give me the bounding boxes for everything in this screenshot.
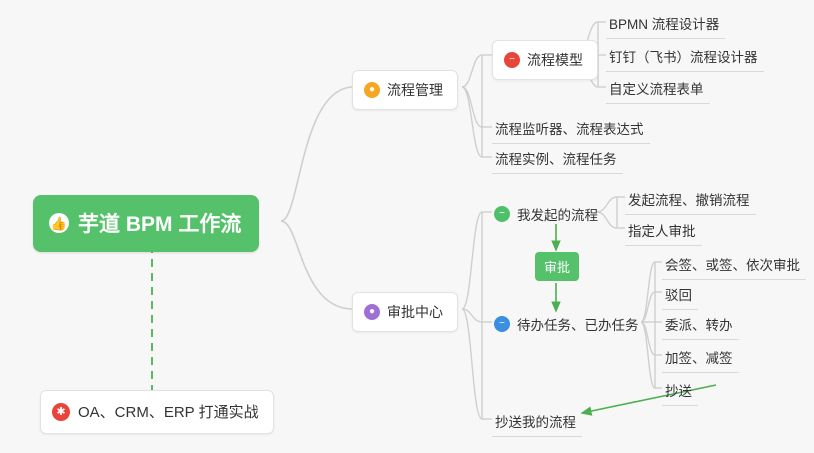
branch-label: 审批中心: [387, 302, 443, 322]
node-label: 我发起的流程: [517, 204, 598, 224]
leaf-custom-form[interactable]: 自定义流程表单: [606, 75, 710, 104]
leaf-add-remove-sign[interactable]: 加签、减签: [662, 344, 739, 373]
location-pin-icon: ●: [364, 82, 380, 98]
minus-circle-icon: −: [504, 52, 520, 68]
leaf-flow-listener-expression[interactable]: 流程监听器、流程表达式: [492, 115, 650, 144]
leaf-bpmn-designer[interactable]: BPMN 流程设计器: [606, 10, 725, 39]
minus-circle-icon: −: [494, 206, 510, 222]
leaf-assign-approver[interactable]: 指定人审批: [625, 217, 702, 246]
callout-integration[interactable]: ✱ OA、CRM、ERP 打通实战: [40, 390, 274, 434]
branch-approval-center[interactable]: ● 审批中心: [352, 292, 458, 332]
chat-bubble-icon: ●: [364, 304, 380, 320]
node-my-initiated-flows[interactable]: − 我发起的流程: [492, 201, 604, 229]
branch-label: 流程管理: [387, 80, 443, 100]
root-label: 芋道 BPM 工作流: [78, 208, 241, 238]
leaf-reject[interactable]: 驳回: [662, 281, 698, 310]
leaf-countersign[interactable]: 会签、或签、依次审批: [662, 251, 806, 280]
branch-flow-management[interactable]: ● 流程管理: [352, 70, 458, 110]
tag-approval[interactable]: 审批: [535, 252, 579, 281]
leaf-dingtalk-designer[interactable]: 钉钉（飞书）流程设计器: [606, 43, 764, 72]
node-label: 待办任务、已办任务: [517, 314, 639, 334]
leaf-flow-instance-task[interactable]: 流程实例、流程任务: [492, 145, 623, 174]
thumbs-up-icon: 👍: [49, 213, 69, 233]
leaf-cc[interactable]: 抄送: [662, 377, 698, 406]
leaf-start-cancel-flow[interactable]: 发起流程、撤销流程: [625, 186, 756, 215]
node-flow-model[interactable]: − 流程模型: [492, 40, 598, 80]
minus-circle-icon: −: [494, 316, 510, 332]
root-node[interactable]: 👍 芋道 BPM 工作流: [33, 195, 259, 252]
leaf-delegate-transfer[interactable]: 委派、转办: [662, 311, 739, 340]
star-icon: ✱: [52, 403, 70, 421]
mindmap-canvas: 👍 芋道 BPM 工作流 ● 流程管理 − 流程模型 BPMN 流程设计器 钉钉…: [0, 0, 814, 453]
callout-label: OA、CRM、ERP 打通实战: [78, 401, 259, 422]
node-label: 流程模型: [527, 50, 583, 70]
node-todo-done-tasks[interactable]: − 待办任务、已办任务: [492, 311, 645, 339]
leaf-cc-to-me-flows[interactable]: 抄送我的流程: [492, 408, 582, 437]
